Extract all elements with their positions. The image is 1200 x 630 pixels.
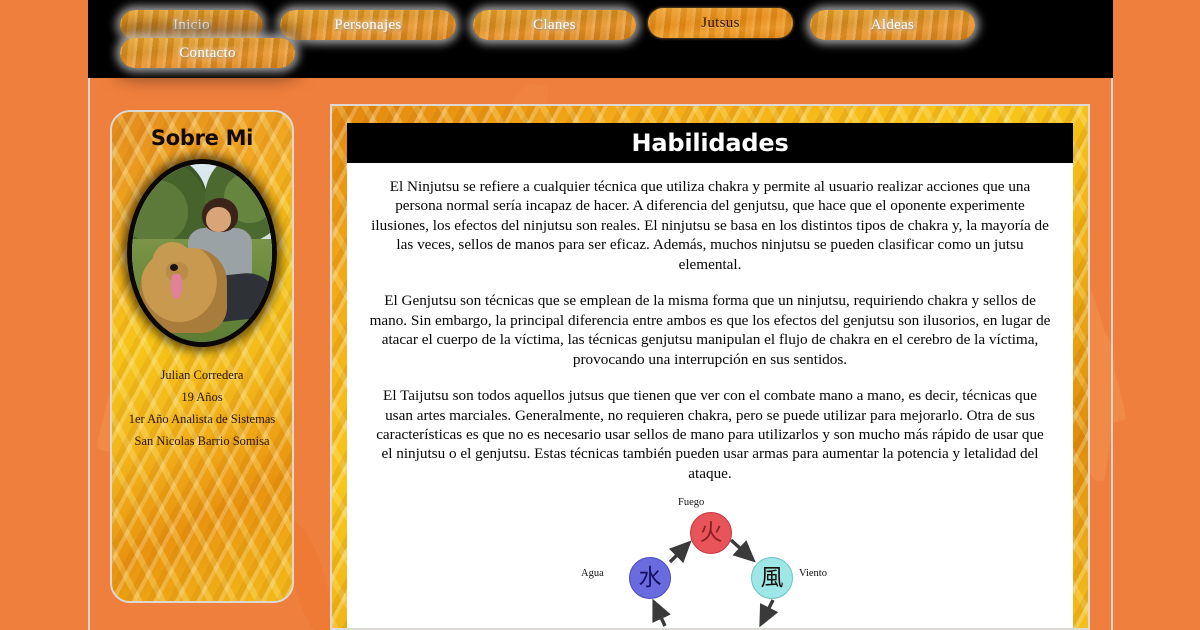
photo-person [206, 207, 231, 232]
paragraph-ninjutsu: El Ninjutsu se refiere a cualquier técni… [369, 177, 1051, 274]
nav-item-jutsus[interactable]: Jutsus [648, 8, 793, 38]
main-navigation: Inicio Personajes Clanes Jutsus Aldeas C… [88, 0, 1113, 78]
content-panel: Habilidades El Ninjutsu se refiere a cua… [330, 104, 1090, 630]
sidebar-about-me: Sobre Mi Julian Corredera 19 Años 1er Añ… [110, 110, 294, 603]
arrow-tierra-agua [654, 602, 665, 626]
element-label-agua: Agua [581, 568, 604, 579]
nav-item-personajes[interactable]: Personajes [280, 10, 456, 40]
sidebar-info: Julian Corredera 19 Años 1er Año Analist… [112, 365, 292, 453]
arrow-viento-rayo [761, 600, 773, 624]
arrow-fuego-viento [731, 540, 753, 560]
nav-item-clanes[interactable]: Clanes [473, 10, 636, 40]
photo-dog [170, 264, 178, 271]
page-title: Habilidades [631, 129, 788, 157]
sidebar-title: Sobre Mi [112, 126, 292, 150]
info-line-studies: 1er Año Analista de Sistemas [112, 409, 292, 431]
nav-item-aldeas[interactable]: Aldeas [810, 10, 975, 40]
info-line-age: 19 Años [112, 387, 292, 409]
info-line-location: San Nicolas Barrio Somisa [112, 431, 292, 453]
nav-item-inicio[interactable]: Inicio [120, 10, 263, 40]
nav-item-contacto[interactable]: Contacto [120, 38, 295, 68]
element-label-viento: Viento [799, 568, 827, 579]
info-line-name: Julian Corredera [112, 365, 292, 387]
element-label-fuego: Fuego [678, 497, 704, 508]
element-cycle-diagram: 火 風 雷 土 水 Fuego Viento Rayo Tierra Agua [585, 500, 835, 630]
arrow-agua-fuego [670, 543, 689, 562]
paragraph-genjutsu: El Genjutsu son técnicas que se emplean … [369, 291, 1051, 369]
panel-header: Habilidades [347, 123, 1073, 163]
paragraph-taijutsu: El Taijutsu son todos aquellos jutsus qu… [369, 386, 1051, 483]
panel-body: El Ninjutsu se refiere a cualquier técni… [347, 163, 1073, 630]
profile-photo [127, 159, 277, 347]
